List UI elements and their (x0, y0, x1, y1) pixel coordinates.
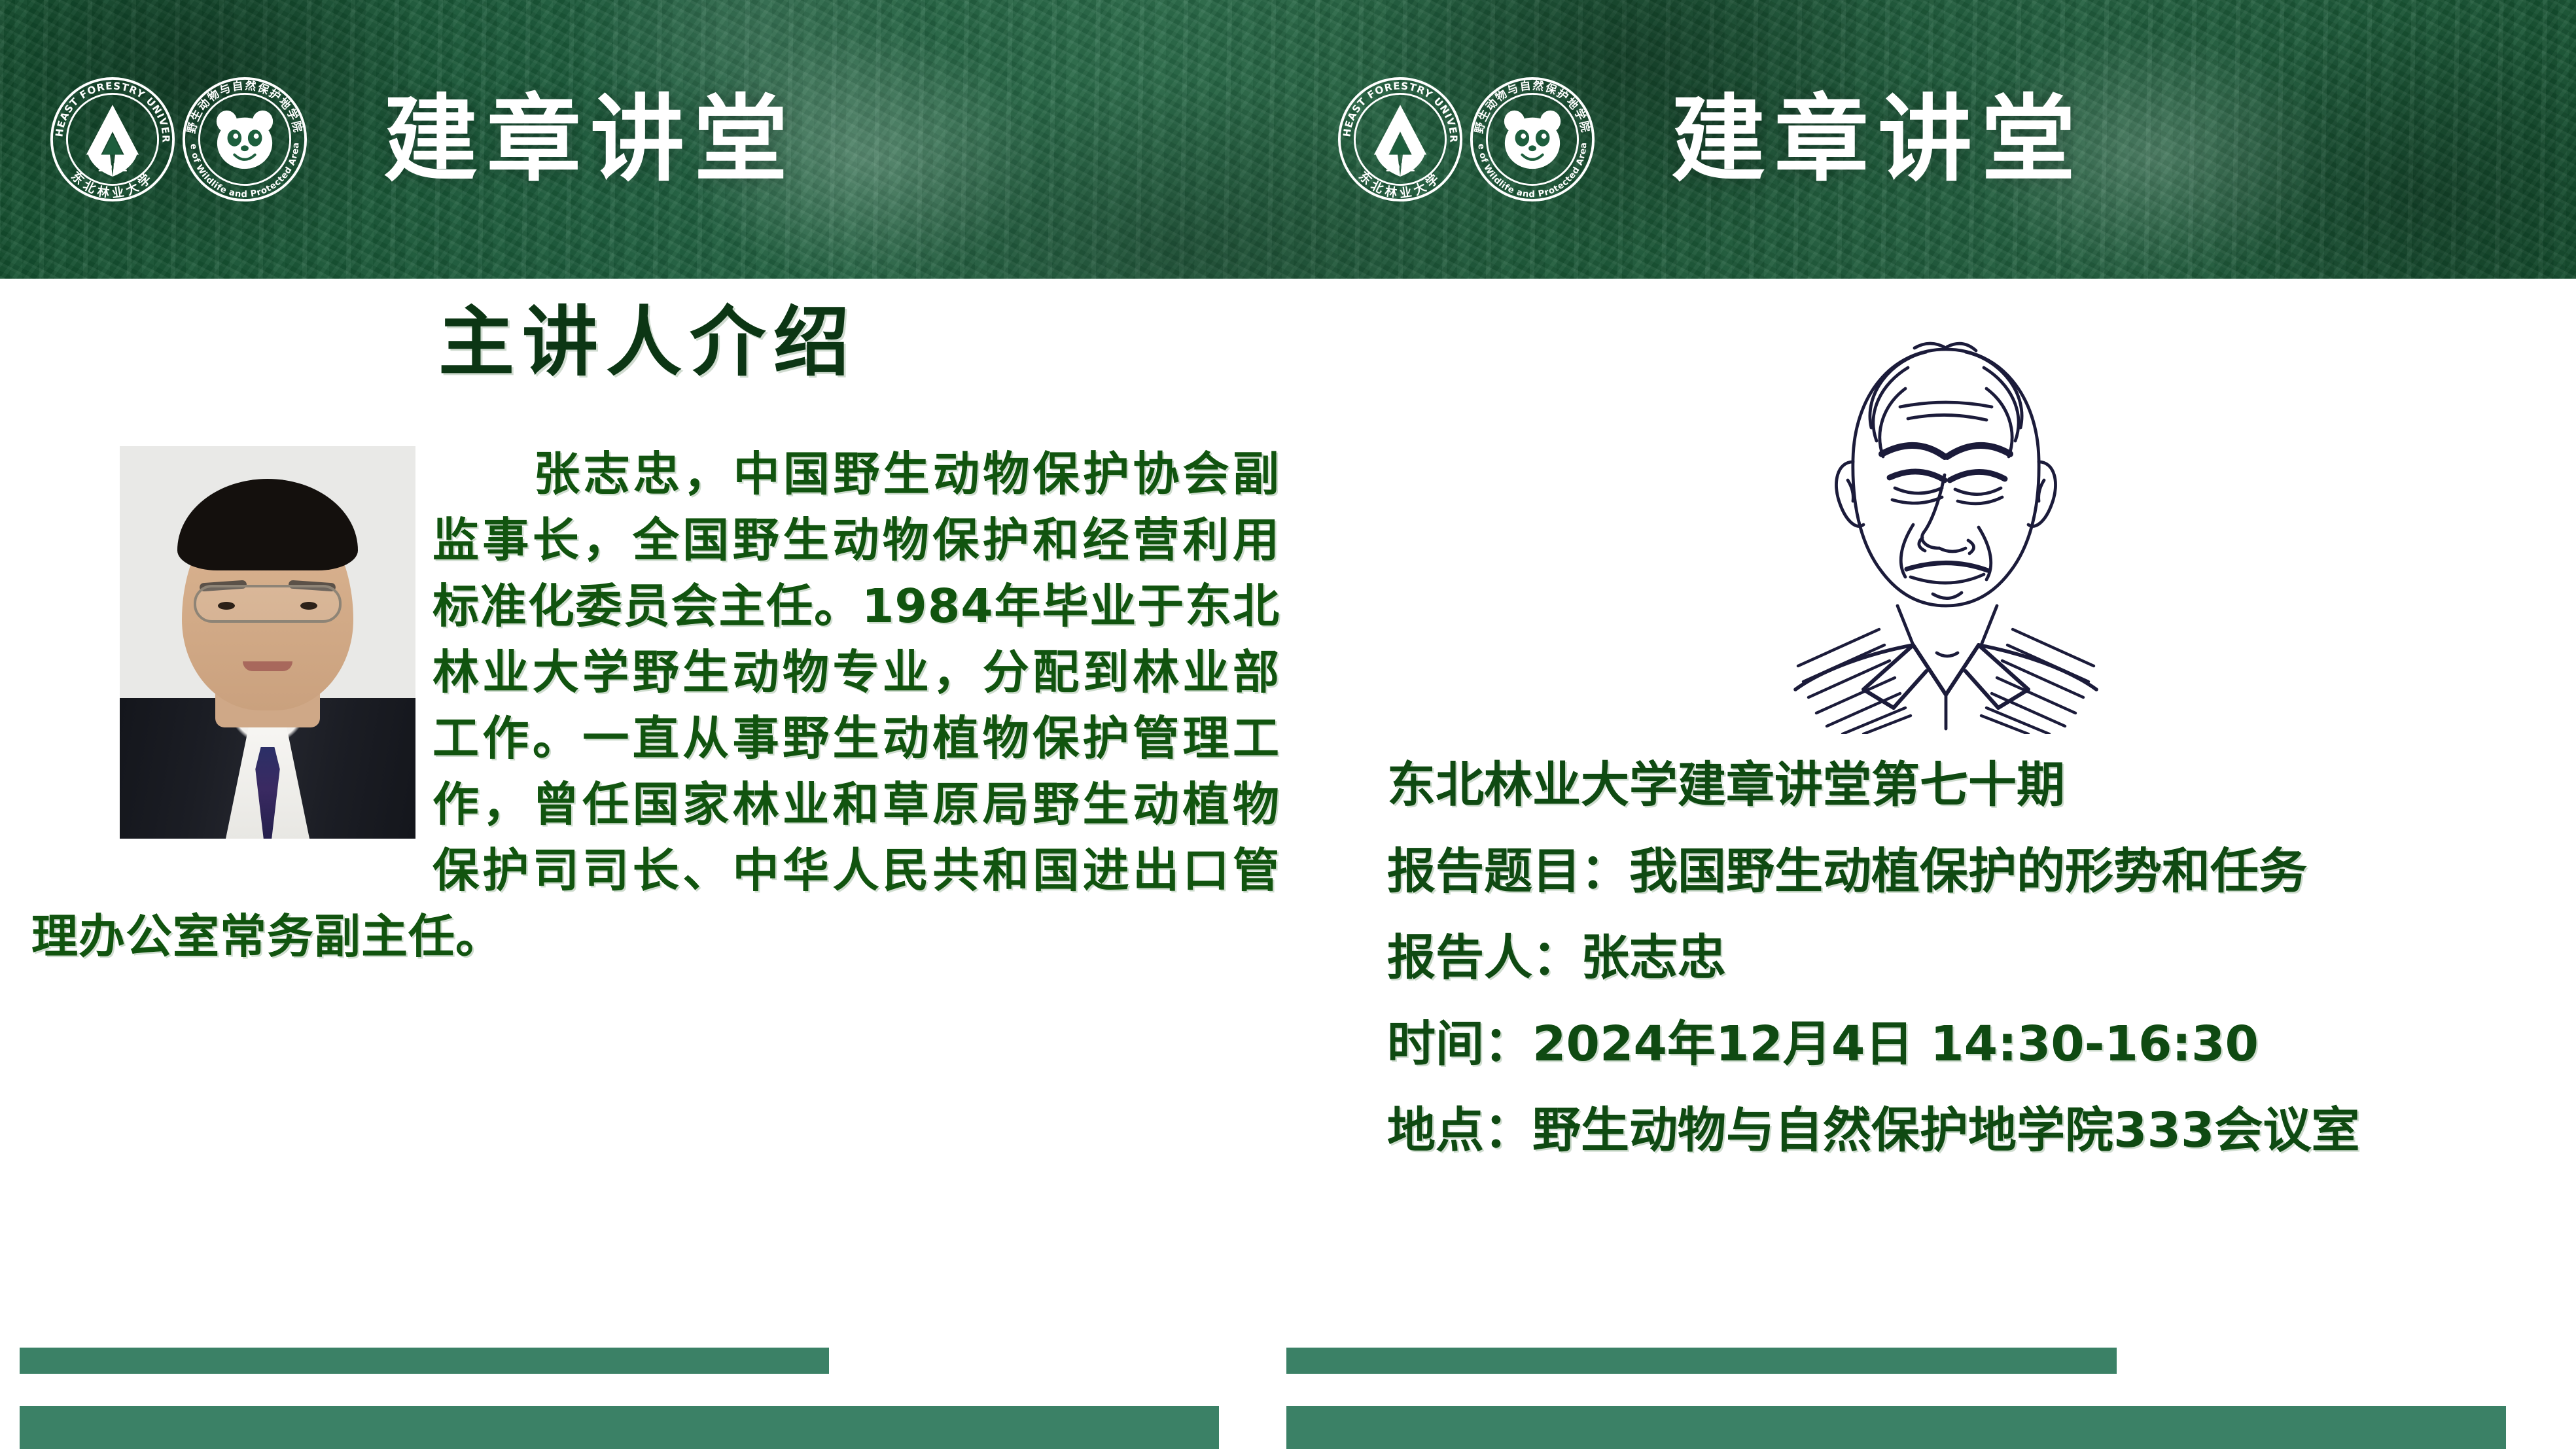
college-of-wildlife-panda-seal-icon: 野生动物与自然保护地学院 College of Wildlife and Pro… (1468, 75, 1597, 203)
speaker-bio-block: 张志忠，中国野生动物保护协会副监事长，全国野生动物保护和经营利用标准化委员会主任… (0, 441, 1315, 969)
svg-text:1952: 1952 (1385, 162, 1415, 174)
footer-bar-top-right (1286, 1348, 2117, 1374)
header-half-right: 1952 NORTHEAST FORESTRY UNIVERSITY 东北林业大… (1288, 0, 2575, 279)
banner-title-right: 建章讲堂 (1671, 92, 2085, 186)
event-speaker: 报告人：张志忠 (1387, 915, 2556, 1001)
northeast-forestry-university-seal-icon: 1952 NORTHEAST FORESTRY UNIVERSITY 东北林业大… (1336, 75, 1464, 203)
event-details-list: 东北林业大学建章讲堂第七十期 报告题目：我国野生动植保护的形势和任务 报告人：张… (1315, 742, 2576, 1174)
footer-bar-bottom-right (1286, 1406, 2506, 1449)
logo-pair-right: 1952 NORTHEAST FORESTRY UNIVERSITY 东北林业大… (1336, 75, 1597, 203)
event-topic: 报告题目：我国野生动植保护的形势和任务 (1387, 828, 2556, 915)
speaker-sketch-wrap (1315, 279, 2576, 730)
section-title-speaker-intro: 主讲人介绍 (0, 305, 1315, 381)
college-of-wildlife-panda-seal-icon: 野生动物与自然保护地学院 College of Wildlife and Pro… (181, 75, 309, 203)
event-details-column: 东北林业大学建章讲堂第七十期 报告题目：我国野生动植保护的形势和任务 报告人：张… (1315, 279, 2576, 1325)
header-half-left: 1952 NORTHEAST FORESTRY UNIVERSITY 东北林业大… (0, 0, 1288, 279)
speaker-line-art-portrait-icon (1717, 315, 2175, 734)
event-time: 时间：2024年12月4日 14:30-16:30 (1387, 1001, 2556, 1087)
northeast-forestry-university-seal-icon: 1952 NORTHEAST FORESTRY UNIVERSITY 东北林业大… (48, 75, 177, 203)
speaker-intro-column: 主讲人介绍 张志忠，中国野生动物保护协会副监事长，全国野生动物保护和经营利用标准… (0, 279, 1315, 1325)
footer-bar-top-left (20, 1348, 829, 1374)
lecture-poster: 1952 NORTHEAST FORESTRY UNIVERSITY 东北林业大… (0, 0, 2576, 1449)
footer-bar-bottom-left (20, 1406, 1219, 1449)
event-venue: 地点：野生动物与自然保护地学院333会议室 (1387, 1087, 2556, 1174)
svg-text:1952: 1952 (97, 162, 128, 174)
logo-pair-left: 1952 NORTHEAST FORESTRY UNIVERSITY 东北林业大… (48, 75, 309, 203)
event-series-title: 东北林业大学建章讲堂第七十期 (1387, 742, 2556, 828)
speaker-portrait-photo (120, 446, 415, 839)
header-banner: 1952 NORTHEAST FORESTRY UNIVERSITY 东北林业大… (0, 0, 2576, 279)
banner-title-left: 建章讲堂 (383, 92, 797, 186)
